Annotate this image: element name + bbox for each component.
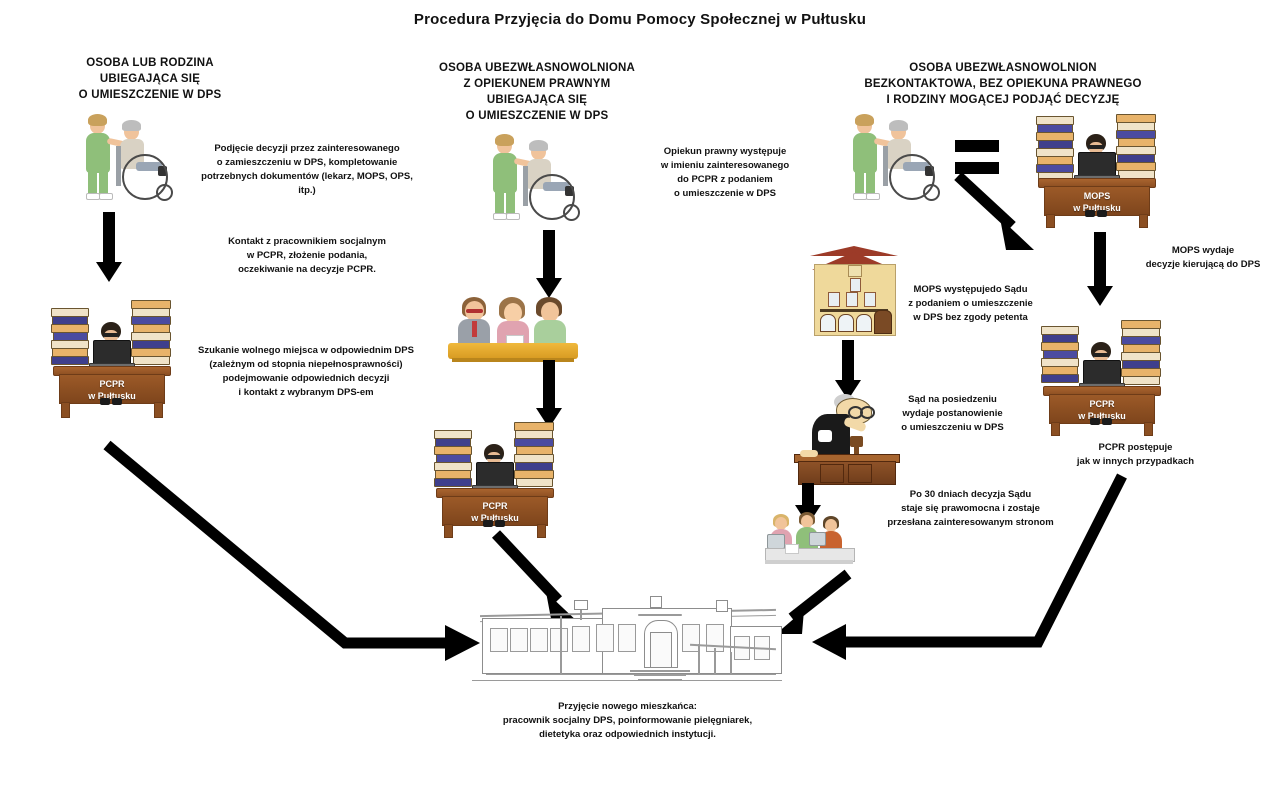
social-worker-meeting-illustration: [448, 285, 578, 363]
note-block-3: Szukanie wolnego miejsca w odpowiednim D…: [188, 344, 424, 400]
note-line: w PCPR, złożenie podania,: [192, 249, 422, 263]
page-title: Procedura Przyjęcia do Domu Pomocy Społe…: [0, 11, 1280, 28]
note-line: w DPS bez zgody petenta: [888, 311, 1053, 325]
note-line: Podjęcie decyzji przez zainteresowanego: [192, 142, 422, 156]
heading-line: I RODZINY MOGĄCEJ PODJĄĆ DECYZJĘ: [808, 92, 1198, 108]
note-block-5: MOPS występujedo Sądu z podaniem o umies…: [888, 283, 1053, 325]
note-line: PCPR postępuje: [1048, 441, 1223, 455]
note-block-9: PCPR postępuje jak w innych przypadkach: [1048, 441, 1223, 469]
heading-line: UBIEGAJĄCA SIĘ: [392, 92, 682, 108]
column-heading-3: OSOBA UBEZWŁASNOWOLNION BEZKONTAKTOWA, B…: [808, 60, 1198, 108]
note-line: MOPS występujedo Sądu: [888, 283, 1053, 297]
note-line: Sąd na posiedzeniu: [880, 393, 1025, 407]
heading-line: OSOBA LUB RODZINA: [20, 55, 280, 71]
flow-arrow-diagonal-mops: [950, 170, 1070, 270]
heading-line: O UMIESZCZENIE W DPS: [20, 87, 280, 103]
note-block-2: Kontakt z pracownikiem socjalnym w PCPR,…: [192, 235, 422, 277]
heading-line: OSOBA UBEZWŁASNOWOLNIONA: [392, 60, 682, 76]
flow-arrow-down: [835, 340, 861, 400]
note-block-1: Podjęcie decyzji przez zainteresowanego …: [192, 142, 422, 198]
note-line: pracownik socjalny DPS, poinformowanie p…: [460, 714, 795, 728]
note-line: dietetyka oraz odpowiednich instytucji.: [460, 728, 795, 742]
note-line: decyzje kierującą do DPS: [1128, 258, 1278, 272]
office-desk-illustration: PCPR w Pułtusku: [1035, 318, 1167, 436]
note-line: do PCPR z podaniem: [630, 173, 820, 187]
note-line: Szukanie wolnego miejsca w odpowiednim D…: [188, 344, 424, 358]
note-line: jak w innych przypadkach: [1048, 455, 1223, 469]
dps-building-sketch: [462, 582, 792, 690]
note-block-4: Opiekun prawny występuje w imieniu zaint…: [630, 145, 820, 201]
note-line: Opiekun prawny występuje: [630, 145, 820, 159]
office-desk-illustration: PCPR w Pułtusku: [428, 420, 560, 538]
heading-line: Z OPIEKUNEM PRAWNYM: [392, 76, 682, 92]
note-line: (zależnym od stopnia niepełnosprawności): [188, 358, 424, 372]
heading-line: OSOBA UBEZWŁASNOWOLNION: [808, 60, 1198, 76]
note-line: wydaje postanowienie: [880, 407, 1025, 421]
note-line: o umieszczenie w DPS: [630, 187, 820, 201]
diagram-canvas: Procedura Przyjęcia do Domu Pomocy Społe…: [0, 0, 1280, 789]
note-block-8: MOPS wydaje decyzje kierującą do DPS: [1128, 244, 1278, 272]
note-line: i kontakt z wybranym DPS-em: [188, 386, 424, 400]
note-line: o zamieszczeniu w DPS, kompletowanie: [192, 156, 422, 170]
note-line: Przyjęcie nowego mieszkańca:: [460, 700, 795, 714]
column-heading-1: OSOBA LUB RODZINA UBIEGAJĄCA SIĘ O UMIES…: [20, 55, 280, 103]
wheelchair-patient-with-nurse-illustration: [845, 110, 945, 200]
flow-arrow-long-right: [820, 470, 1240, 680]
office-desk-illustration: PCPR w Pułtusku: [45, 292, 177, 418]
note-line: oczekiwanie na decyzje PCPR.: [192, 263, 422, 277]
heading-line: UBIEGAJĄCA SIĘ: [20, 71, 280, 87]
note-line: MOPS wydaje: [1128, 244, 1278, 258]
note-line: podejmowanie odpowiednich decyzji: [188, 372, 424, 386]
note-line: Kontakt z pracownikiem socjalnym: [192, 235, 422, 249]
flow-arrow-down: [96, 212, 122, 284]
note-block-final: Przyjęcie nowego mieszkańca: pracownik s…: [460, 700, 795, 742]
heading-line: BEZKONTAKTOWA, BEZ OPIEKUNA PRAWNEGO: [808, 76, 1198, 92]
column-heading-2: OSOBA UBEZWŁASNOWOLNIONA Z OPIEKUNEM PRA…: [392, 60, 682, 124]
wheelchair-patient-with-nurse-illustration: [78, 110, 178, 200]
wheelchair-patient-with-nurse-illustration: [485, 130, 585, 220]
note-line: z podaniem o umieszczenie: [888, 297, 1053, 311]
note-block-6: Sąd na posiedzeniu wydaje postanowienie …: [880, 393, 1025, 435]
note-line: o umieszczeniu w DPS: [880, 421, 1025, 435]
heading-line: O UMIESZCZENIE W DPS: [392, 108, 682, 124]
flow-arrow-down: [1087, 232, 1113, 310]
note-line: potrzebnych dokumentów (lekarz, MOPS, OP…: [192, 170, 422, 198]
note-line: w imieniu zainteresowanego: [630, 159, 820, 173]
